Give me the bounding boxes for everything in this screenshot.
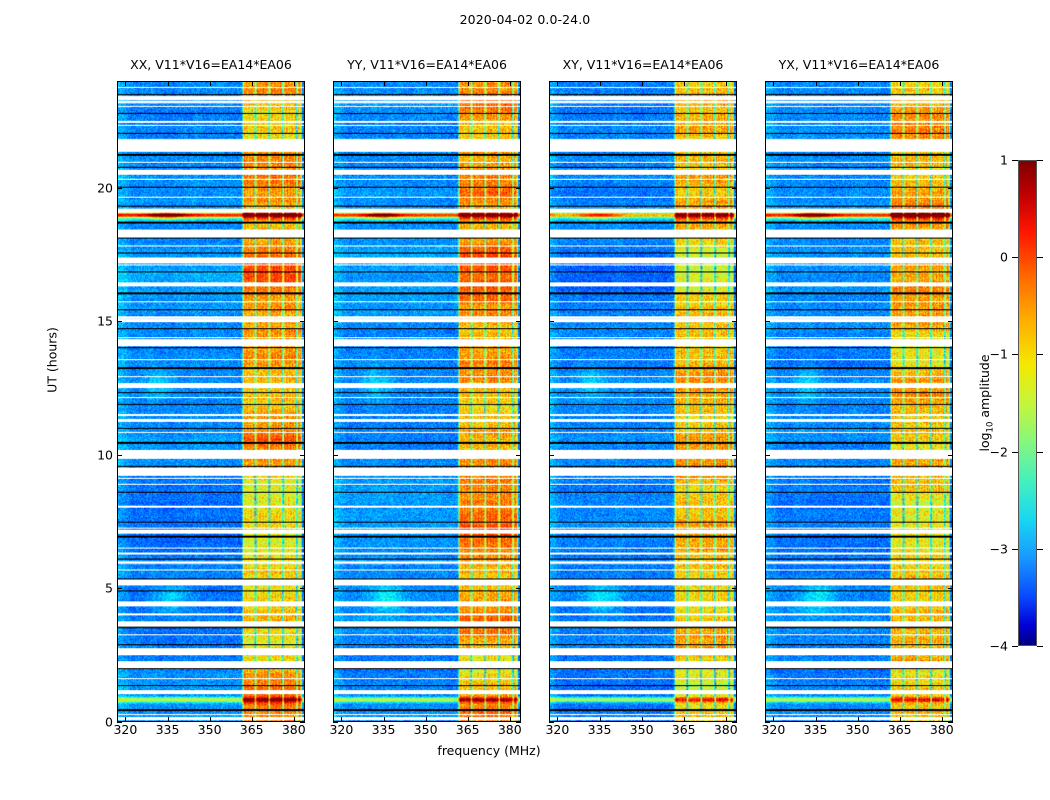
x-tick-row-xx: 320335350365380 bbox=[117, 722, 305, 752]
y-tick-label: 15 bbox=[97, 314, 113, 329]
x-tick-label: 335 bbox=[588, 722, 612, 737]
y-tick-mark bbox=[765, 321, 770, 322]
y-tick-mark bbox=[117, 188, 122, 189]
panel-title-xx: XX, V11*V16=EA14*EA06 bbox=[130, 57, 292, 72]
y-tick-label: 5 bbox=[105, 581, 113, 596]
y-tick-mark bbox=[549, 455, 554, 456]
colorbar-tick-mark-right bbox=[1037, 452, 1043, 453]
dynamic-spectrum-yx bbox=[766, 82, 952, 721]
x-tick-label: 380 bbox=[282, 722, 306, 737]
x-tick-mark bbox=[252, 717, 253, 722]
x-tick-mark-top bbox=[426, 81, 427, 86]
y-tick-mark-right bbox=[948, 455, 953, 456]
dynamic-spectrum-xx bbox=[118, 82, 304, 721]
x-tick-mark bbox=[468, 717, 469, 722]
y-tick-mark bbox=[333, 722, 338, 723]
colorbar-tick-mark bbox=[1012, 160, 1018, 161]
x-tick-label: 350 bbox=[198, 722, 222, 737]
x-tick-mark-top bbox=[773, 81, 774, 86]
y-axis-label: UT (hours) bbox=[45, 327, 60, 393]
x-tick-label: 380 bbox=[930, 722, 954, 737]
y-tick-mark-right bbox=[300, 455, 305, 456]
x-tick-label: 350 bbox=[630, 722, 654, 737]
y-tick-mark-right bbox=[516, 722, 521, 723]
x-tick-mark-top bbox=[684, 81, 685, 86]
x-tick-label: 365 bbox=[888, 722, 912, 737]
x-tick-mark bbox=[642, 717, 643, 722]
x-tick-mark-top bbox=[252, 81, 253, 86]
x-tick-mark-top bbox=[341, 81, 342, 86]
y-tick-label: 20 bbox=[97, 180, 113, 195]
y-tick-label: 0 bbox=[105, 715, 113, 730]
x-tick-row-yx: 320335350365380 bbox=[765, 722, 953, 752]
panel-yy: YY, V11*V16=EA14*EA06 320335350365380 bbox=[333, 81, 521, 722]
x-tick-mark-top bbox=[858, 81, 859, 86]
panel-yx: YX, V11*V16=EA14*EA06 320335350365380 bbox=[765, 81, 953, 722]
y-tick-mark-right bbox=[300, 188, 305, 189]
y-tick-mark bbox=[333, 321, 338, 322]
y-tick-mark bbox=[549, 321, 554, 322]
x-tick-mark bbox=[384, 717, 385, 722]
dynamic-spectrum-xy bbox=[550, 82, 736, 721]
x-tick-mark-top bbox=[168, 81, 169, 86]
colorbar-gradient bbox=[1019, 161, 1036, 645]
x-tick-mark bbox=[294, 717, 295, 722]
x-tick-label: 380 bbox=[714, 722, 738, 737]
y-tick-mark-right bbox=[732, 588, 737, 589]
y-tick-mark-right bbox=[300, 722, 305, 723]
panel-xx: XX, V11*V16=EA14*EA06 320335350365380 05… bbox=[117, 81, 305, 722]
x-tick-label: 365 bbox=[456, 722, 480, 737]
x-tick-row-yy: 320335350365380 bbox=[333, 722, 521, 752]
x-tick-mark-top bbox=[942, 81, 943, 86]
colorbar-tick-mark-right bbox=[1037, 549, 1043, 550]
x-tick-mark-top bbox=[125, 81, 126, 86]
x-tick-mark-top bbox=[816, 81, 817, 86]
y-tick-mark-right bbox=[948, 188, 953, 189]
y-tick-mark bbox=[549, 588, 554, 589]
colorbar-tick-mark-right bbox=[1037, 354, 1043, 355]
dynamic-spectrum-yy bbox=[334, 82, 520, 721]
x-tick-label: 350 bbox=[414, 722, 438, 737]
y-tick-mark bbox=[333, 188, 338, 189]
x-tick-label: 320 bbox=[545, 722, 569, 737]
y-tick-mark bbox=[765, 455, 770, 456]
x-tick-mark bbox=[900, 717, 901, 722]
y-tick-mark-right bbox=[732, 188, 737, 189]
spectrum-image-yx bbox=[766, 82, 952, 721]
colorbar[interactable] bbox=[1018, 160, 1037, 646]
x-tick-mark-top bbox=[900, 81, 901, 86]
y-tick-mark bbox=[117, 321, 122, 322]
y-tick-mark bbox=[765, 722, 770, 723]
x-tick-mark-top bbox=[557, 81, 558, 86]
colorbar-tick-mark-right bbox=[1037, 160, 1043, 161]
panel-title-xy: XY, V11*V16=EA14*EA06 bbox=[563, 57, 724, 72]
x-tick-label: 350 bbox=[846, 722, 870, 737]
colorbar-tick-mark bbox=[1012, 452, 1018, 453]
y-tick-mark-right bbox=[516, 321, 521, 322]
heatmap-axes-yy[interactable] bbox=[333, 81, 521, 722]
y-tick-mark-right bbox=[948, 588, 953, 589]
x-tick-row-xy: 320335350365380 bbox=[549, 722, 737, 752]
x-tick-mark-top bbox=[384, 81, 385, 86]
y-tick-mark-right bbox=[300, 321, 305, 322]
x-tick-mark bbox=[557, 717, 558, 722]
y-tick-mark bbox=[117, 722, 122, 723]
colorbar-tick-mark bbox=[1012, 354, 1018, 355]
y-tick-mark-right bbox=[732, 722, 737, 723]
x-tick-label: 365 bbox=[240, 722, 264, 737]
x-tick-mark-top bbox=[294, 81, 295, 86]
x-tick-mark bbox=[125, 717, 126, 722]
colorbar-title: log10 amplitude bbox=[977, 354, 996, 451]
colorbar-tick-label: −1 bbox=[990, 347, 1008, 362]
x-tick-mark-top bbox=[726, 81, 727, 86]
panel-xy: XY, V11*V16=EA14*EA06 320335350365380 bbox=[549, 81, 737, 722]
spectrum-image-yy bbox=[334, 82, 520, 721]
x-tick-mark-top bbox=[600, 81, 601, 86]
y-tick-mark-right bbox=[516, 188, 521, 189]
spectrum-image-xx bbox=[118, 82, 304, 721]
x-tick-label: 320 bbox=[761, 722, 785, 737]
colorbar-tick-label: −2 bbox=[990, 444, 1008, 459]
colorbar-tick-mark-right bbox=[1037, 646, 1043, 647]
heatmap-axes-xy[interactable] bbox=[549, 81, 737, 722]
figure-suptitle: 2020-04-02 0.0-24.0 bbox=[0, 12, 1050, 27]
colorbar-tick-label: −4 bbox=[990, 639, 1008, 654]
y-tick-mark-right bbox=[516, 588, 521, 589]
x-tick-label: 335 bbox=[372, 722, 396, 737]
x-tick-label: 380 bbox=[498, 722, 522, 737]
x-tick-mark bbox=[168, 717, 169, 722]
y-tick-mark bbox=[117, 455, 122, 456]
spectrum-image-xy bbox=[550, 82, 736, 721]
x-tick-mark bbox=[210, 717, 211, 722]
x-tick-label: 320 bbox=[329, 722, 353, 737]
colorbar-tick-label: 0 bbox=[1000, 250, 1008, 265]
y-tick-mark-right bbox=[516, 455, 521, 456]
x-tick-label: 320 bbox=[113, 722, 137, 737]
x-tick-mark-top bbox=[510, 81, 511, 86]
x-tick-label: 335 bbox=[156, 722, 180, 737]
y-tick-mark-right bbox=[732, 455, 737, 456]
y-tick-mark bbox=[117, 588, 122, 589]
y-tick-mark bbox=[765, 188, 770, 189]
heatmap-axes-xx[interactable] bbox=[117, 81, 305, 722]
y-tick-label: 10 bbox=[97, 447, 113, 462]
y-tick-mark-right bbox=[948, 722, 953, 723]
colorbar-tick-mark bbox=[1012, 646, 1018, 647]
x-tick-mark bbox=[600, 717, 601, 722]
x-tick-mark bbox=[426, 717, 427, 722]
colorbar-tick-label: −3 bbox=[990, 541, 1008, 556]
y-tick-mark bbox=[549, 188, 554, 189]
x-tick-mark bbox=[773, 717, 774, 722]
colorbar-tick-mark bbox=[1012, 257, 1018, 258]
x-tick-mark-top bbox=[642, 81, 643, 86]
x-tick-mark-top bbox=[468, 81, 469, 86]
heatmap-axes-yx[interactable] bbox=[765, 81, 953, 722]
x-tick-mark bbox=[341, 717, 342, 722]
colorbar-tick-mark bbox=[1012, 549, 1018, 550]
x-tick-label: 335 bbox=[804, 722, 828, 737]
y-tick-mark-right bbox=[948, 321, 953, 322]
colorbar-tick-mark-right bbox=[1037, 257, 1043, 258]
x-tick-mark bbox=[942, 717, 943, 722]
panel-title-yy: YY, V11*V16=EA14*EA06 bbox=[347, 57, 507, 72]
x-tick-mark bbox=[726, 717, 727, 722]
y-tick-mark bbox=[765, 588, 770, 589]
y-tick-mark-right bbox=[300, 588, 305, 589]
colorbar-tick-label: 1 bbox=[1000, 153, 1008, 168]
x-tick-mark bbox=[858, 717, 859, 722]
y-tick-mark-right bbox=[732, 321, 737, 322]
y-tick-mark bbox=[333, 588, 338, 589]
y-tick-mark bbox=[549, 722, 554, 723]
x-tick-mark-top bbox=[210, 81, 211, 86]
panel-title-yx: YX, V11*V16=EA14*EA06 bbox=[779, 57, 940, 72]
figure-canvas: 2020-04-02 0.0-24.0 UT (hours) frequency… bbox=[0, 0, 1050, 800]
x-tick-mark bbox=[684, 717, 685, 722]
x-tick-mark bbox=[816, 717, 817, 722]
y-tick-mark bbox=[333, 455, 338, 456]
x-tick-mark bbox=[510, 717, 511, 722]
x-tick-label: 365 bbox=[672, 722, 696, 737]
